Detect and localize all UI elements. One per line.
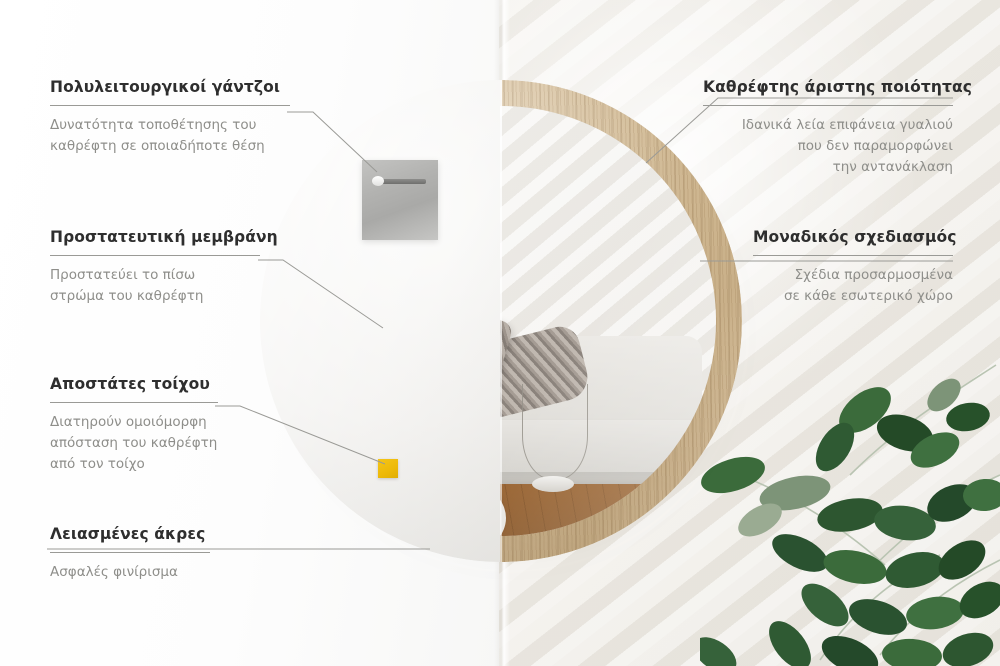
wall-spacer-chip — [378, 459, 398, 478]
foliage-decoration — [700, 355, 1000, 666]
infographic-canvas: Πολυλειτουργικοί γάντζοι Δυνατότητα τοπο… — [0, 0, 1000, 666]
callout-spacers-body: Διατηρούν ομοιόμορφη απόσταση του καθρέφ… — [50, 412, 218, 475]
callout-quality: Καθρέφτης άριστης ποιότητας Ιδανικά λεία… — [703, 78, 953, 178]
mirror-disc — [260, 80, 742, 562]
hook-icon — [372, 174, 428, 188]
callout-membrane-title: Προστατευτική μεμβράνη — [50, 228, 260, 246]
callout-membrane-rule — [50, 255, 260, 256]
mirror-glass — [500, 106, 716, 536]
callout-spacers-rule — [50, 402, 218, 403]
callout-edges-rule — [50, 552, 210, 553]
callout-edges-body: Ασφαλές φινίρισμα — [50, 562, 210, 583]
callout-design: Μοναδικός σχεδιασμός Σχέδια προσαρμοσμέν… — [753, 228, 953, 307]
callout-membrane-body: Προστατεύει το πίσω στρώμα του καθρέφτη — [50, 265, 260, 307]
product-mirror — [260, 80, 742, 562]
callout-design-title: Μοναδικός σχεδιασμός — [753, 228, 953, 246]
callout-spacers: Αποστάτες τοίχου Διατηρούν ομοιόμορφη απ… — [50, 375, 218, 475]
callout-spacers-title: Αποστάτες τοίχου — [50, 375, 218, 393]
callout-hooks-rule — [50, 105, 290, 106]
callout-edges: Λειασμένες άκρες Ασφαλές φινίρισμα — [50, 525, 210, 583]
callout-membrane: Προστατευτική μεμβράνη Προστατεύει το πί… — [50, 228, 260, 307]
mirror-glass-sheen — [500, 106, 716, 536]
callout-quality-title: Καθρέφτης άριστης ποιότητας — [703, 78, 953, 96]
callout-hooks: Πολυλειτουργικοί γάντζοι Δυνατότητα τοπο… — [50, 78, 290, 157]
callout-quality-rule — [703, 105, 953, 106]
mirror-half-seam — [500, 80, 502, 562]
callout-edges-title: Λειασμένες άκρες — [50, 525, 210, 543]
callout-hooks-title: Πολυλειτουργικοί γάντζοι — [50, 78, 290, 96]
callout-quality-body: Ιδανικά λεία επιφάνεια γυαλιού που δεν π… — [703, 115, 953, 178]
callout-design-body: Σχέδια προσαρμοσμένα σε κάθε εσωτερικό χ… — [753, 265, 953, 307]
hook-detail-swatch — [362, 160, 438, 240]
callout-hooks-body: Δυνατότητα τοποθέτησης του καθρέφτη σε ο… — [50, 115, 290, 157]
callout-design-rule — [753, 255, 953, 256]
